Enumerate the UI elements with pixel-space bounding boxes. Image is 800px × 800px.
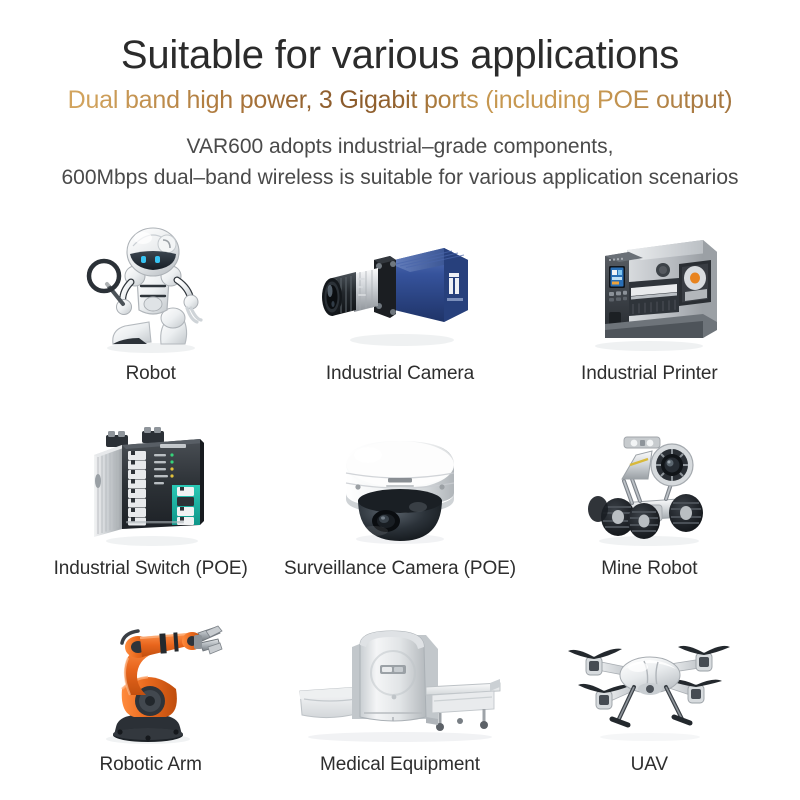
page-title: Suitable for various applications xyxy=(0,34,800,77)
application-card-robotic-arm: Robotic Arm xyxy=(26,588,275,784)
application-label: Mine Robot xyxy=(601,558,697,580)
application-label: Industrial Switch (POE) xyxy=(54,558,248,580)
uav-drone-icon xyxy=(566,617,732,745)
application-card-industrial-switch: Industrial Switch (POE) xyxy=(26,393,275,589)
application-showcase-page: Suitable for various applications Dual b… xyxy=(0,0,800,800)
application-card-industrial-camera: Industrial Camera xyxy=(275,197,524,393)
industrial-printer-icon xyxy=(571,226,727,354)
application-label: UAV xyxy=(631,754,668,776)
header-block: Suitable for various applications Dual b… xyxy=(0,0,800,193)
page-subtitle: Dual band high power, 3 Gigabit ports (i… xyxy=(0,87,800,115)
medical-scanner-icon xyxy=(294,617,506,745)
application-label: Industrial Camera xyxy=(326,363,474,385)
industrial-camera-icon xyxy=(316,226,484,354)
application-card-surveillance-camera: Surveillance Camera (POE) xyxy=(275,393,524,589)
applications-grid: Robot xyxy=(0,193,800,800)
robotic-arm-icon xyxy=(76,617,226,745)
application-label: Robot xyxy=(126,363,176,385)
application-card-medical-equipment: Medical Equipment xyxy=(275,588,524,784)
mine-robot-icon xyxy=(574,421,724,549)
application-label: Medical Equipment xyxy=(320,754,480,776)
application-card-uav: UAV xyxy=(525,588,774,784)
description-line-2: 600Mbps dual–band wireless is suitable f… xyxy=(0,162,800,193)
application-label: Surveillance Camera (POE) xyxy=(284,558,516,580)
application-label: Robotic Arm xyxy=(99,754,201,776)
robot-icon xyxy=(77,226,225,354)
page-description: VAR600 adopts industrial–grade component… xyxy=(0,131,800,193)
description-line-1: VAR600 adopts industrial–grade component… xyxy=(0,131,800,162)
application-label: Industrial Printer xyxy=(581,363,718,385)
dome-camera-icon xyxy=(322,421,478,549)
application-card-robot: Robot xyxy=(26,197,275,393)
industrial-switch-icon xyxy=(78,421,224,549)
application-card-mine-robot: Mine Robot xyxy=(525,393,774,589)
application-card-industrial-printer: Industrial Printer xyxy=(525,197,774,393)
